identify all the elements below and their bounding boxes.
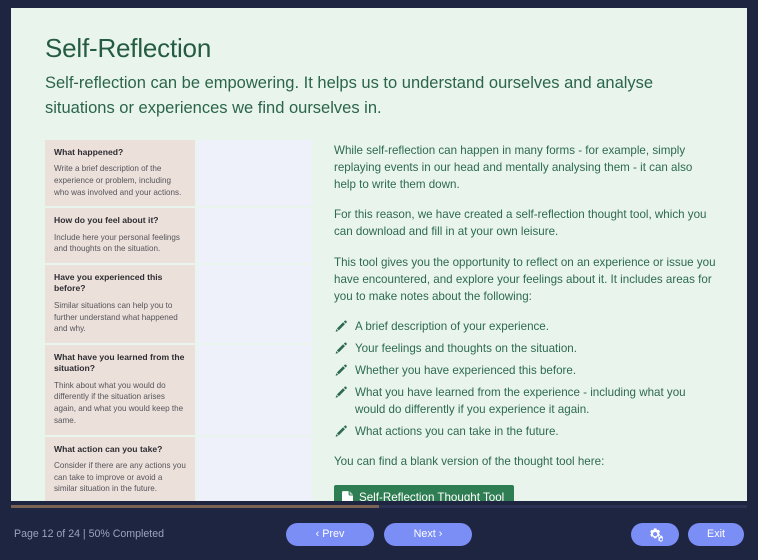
prompt-question: What happened? [54,147,186,158]
prompt-description: Think about what you would do differentl… [54,380,186,427]
table-row: What happened? Write a brief description… [45,140,312,209]
closing-text: You can find a blank version of the thou… [334,453,717,470]
footer-right-controls: Exit [631,523,744,546]
prompt-description: Write a brief description of the experie… [54,163,186,198]
page-status-text: Page 12 of 24 | 50% Completed [14,528,164,540]
table-cell-answer [195,437,312,501]
pencil-icon [334,425,347,438]
list-item-label: Your feelings and thoughts on the situat… [355,340,717,357]
pencil-icon [334,386,347,399]
explanatory-text-column: While self-reflection can happen in many… [312,140,717,501]
prompt-description: Consider if there are any actions you ca… [54,460,186,495]
prompt-question: Have you experienced this before? [54,272,186,295]
list-item-label: What actions you can take in the future. [355,423,717,440]
download-button-label: Self-Reflection Thought Tool [359,491,504,501]
thought-tool-table: What happened? Write a brief description… [45,140,312,501]
next-button[interactable]: Next › [384,523,472,546]
cogs-icon [647,527,663,542]
body-columns: What happened? Write a brief description… [45,140,717,501]
list-item: What actions you can take in the future. [334,423,717,440]
table-cell-answer [195,140,312,207]
slide-inner: Self-Reflection Self-reflection can be e… [11,8,747,501]
player-footer: Page 12 of 24 | 50% Completed ‹ Prev Nex… [0,508,758,560]
table-row: How do you feel about it? Include here y… [45,208,312,265]
prompt-question: What action can you take? [54,444,186,455]
table-cell-answer [195,345,312,435]
download-thought-tool-button[interactable]: Self-Reflection Thought Tool [334,485,514,501]
table-cell-prompt: Have you experienced this before? Simila… [45,265,195,343]
prompt-description: Similar situations can help you to furth… [54,300,186,335]
page-subtitle: Self-reflection can be empowering. It he… [45,71,717,122]
prompt-question: How do you feel about it? [54,215,186,226]
prev-button[interactable]: ‹ Prev [286,523,374,546]
table-cell-prompt: What action can you take? Consider if th… [45,437,195,501]
list-item: A brief description of your experience. [334,318,717,335]
table-cell-prompt: How do you feel about it? Include here y… [45,208,195,263]
pencil-icon [334,342,347,355]
list-item: Your feelings and thoughts on the situat… [334,340,717,357]
paragraph: This tool gives you the opportunity to r… [334,254,717,305]
exit-button[interactable]: Exit [688,523,744,546]
table-row: What have you learned from the situation… [45,345,312,437]
pencil-icon [334,364,347,377]
prompt-question: What have you learned from the situation… [54,352,186,375]
settings-button[interactable] [631,523,679,546]
table-cell-answer [195,208,312,263]
paragraph: For this reason, we have created a self-… [334,206,717,240]
table-cell-prompt: What happened? Write a brief description… [45,140,195,207]
list-item-label: A brief description of your experience. [355,318,717,335]
table-cell-prompt: What have you learned from the situation… [45,345,195,435]
list-item-label: What you have learned from the experienc… [355,384,717,419]
prompt-description: Include here your personal feelings and … [54,232,186,255]
table-cell-answer [195,265,312,343]
paragraph: While self-reflection can happen in many… [334,142,717,193]
slide-content-area: Self-Reflection Self-reflection can be e… [11,8,747,501]
file-icon [342,491,353,501]
table-row: Have you experienced this before? Simila… [45,265,312,345]
pencil-icon [334,320,347,333]
list-item: What you have learned from the experienc… [334,384,717,419]
page-title: Self-Reflection [45,34,717,63]
course-player-window: Self-Reflection Self-reflection can be e… [0,0,758,560]
list-item: Whether you have experienced this before… [334,362,717,379]
list-item-label: Whether you have experienced this before… [355,362,717,379]
feature-bullet-list: A brief description of your experience. … [334,318,717,440]
table-row: What action can you take? Consider if th… [45,437,312,501]
